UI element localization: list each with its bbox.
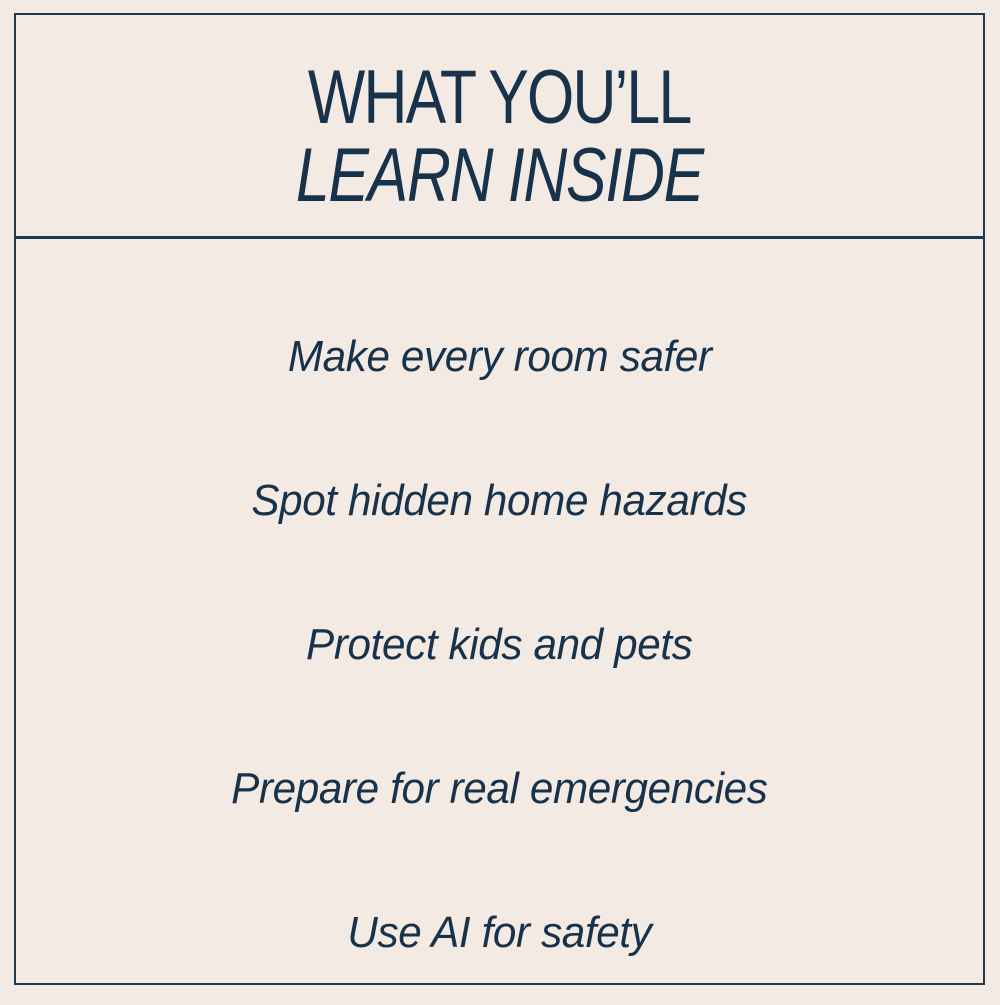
list-item: Spot hidden home hazards bbox=[252, 429, 748, 573]
page-title-line-1: WHAT YOU’LL bbox=[308, 62, 691, 135]
list-item: Use AI for safety bbox=[347, 861, 651, 1005]
benefits-list: Make every room safer Spot hidden home h… bbox=[16, 239, 983, 1005]
list-item: Protect kids and pets bbox=[306, 573, 692, 717]
card-header: WHAT YOU’LL LEARN INSIDE bbox=[16, 15, 983, 239]
list-item: Make every room safer bbox=[288, 285, 712, 429]
page-title-line-2: LEARN INSIDE bbox=[296, 140, 703, 211]
content-card: WHAT YOU’LL LEARN INSIDE Make every room… bbox=[14, 13, 985, 985]
list-item: Prepare for real emergencies bbox=[231, 717, 767, 861]
